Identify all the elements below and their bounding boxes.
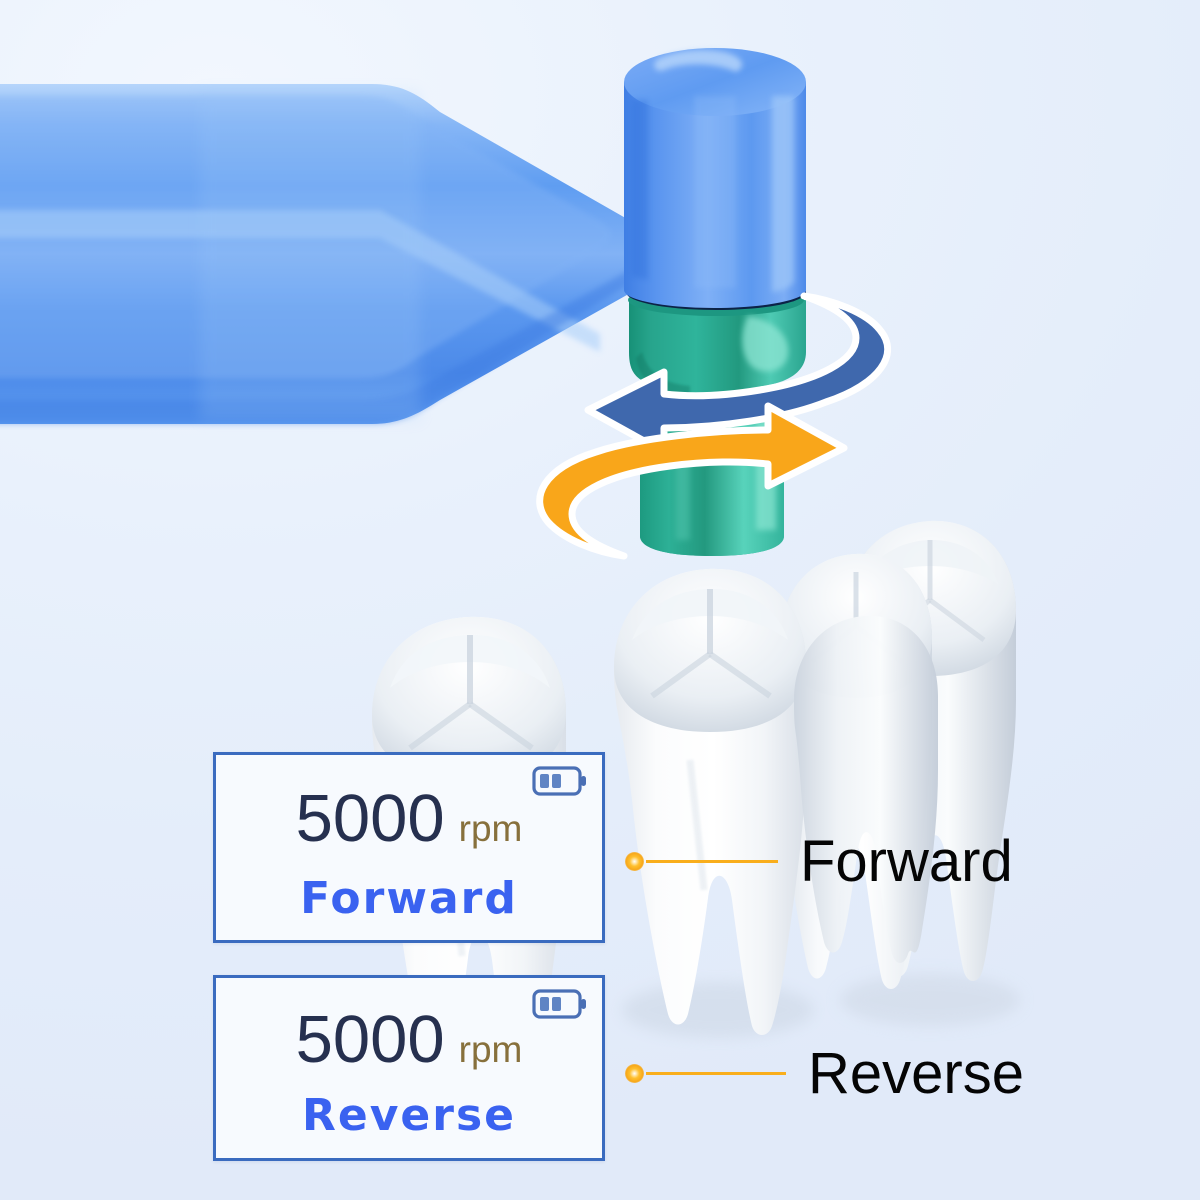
callout-leader-line bbox=[646, 1072, 786, 1075]
direction-row-reverse: Reverse bbox=[216, 1090, 602, 1141]
rpm-value: 5000 bbox=[296, 785, 445, 852]
readout-panel-reverse[interactable]: 5000 rpm Reverse bbox=[213, 975, 605, 1161]
callout-label: Forward bbox=[800, 828, 1013, 895]
handpiece-head bbox=[624, 48, 806, 308]
callout-dot-icon bbox=[625, 1064, 644, 1083]
callout-forward: Forward bbox=[625, 828, 1013, 895]
rpm-value: 5000 bbox=[296, 1006, 445, 1073]
rpm-readout-forward: 5000 rpm bbox=[216, 785, 602, 852]
illustration-stage: 5000 rpm Forward 5000 rpm Reverse Forwar… bbox=[0, 0, 1200, 1200]
tooth-middle bbox=[614, 569, 814, 1038]
rpm-unit: rpm bbox=[459, 810, 523, 847]
callout-label: Reverse bbox=[808, 1040, 1024, 1107]
callout-dot-icon bbox=[625, 852, 644, 871]
direction-row-forward: Forward bbox=[216, 873, 602, 924]
direction-label: Reverse bbox=[302, 1090, 516, 1141]
dental-handpiece bbox=[0, 48, 806, 556]
callout-reverse: Reverse bbox=[625, 1040, 1024, 1107]
readout-panel-forward[interactable]: 5000 rpm Forward bbox=[213, 752, 605, 943]
direction-label: Forward bbox=[300, 873, 518, 924]
callout-leader-line bbox=[646, 860, 778, 863]
handpiece-body bbox=[0, 84, 670, 424]
rpm-unit: rpm bbox=[459, 1031, 523, 1068]
rpm-readout-reverse: 5000 rpm bbox=[216, 1006, 602, 1073]
